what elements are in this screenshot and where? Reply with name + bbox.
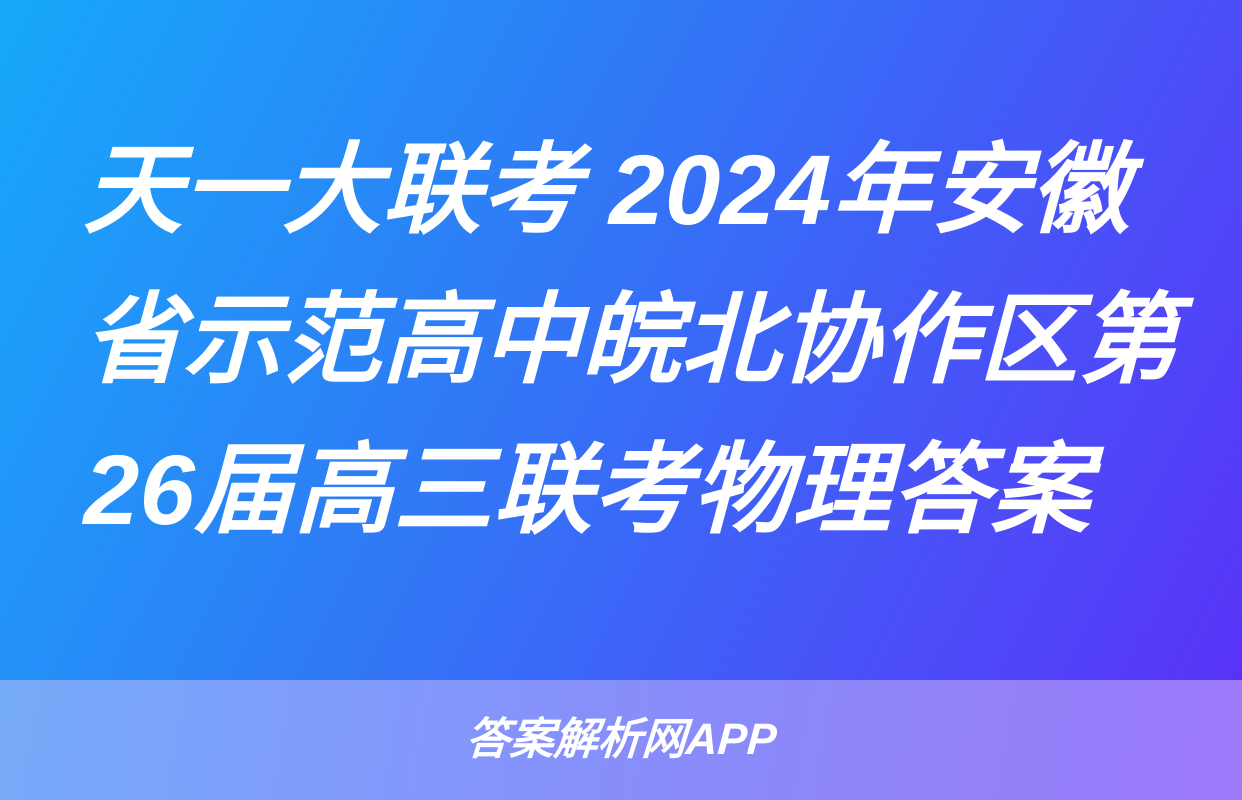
headline-line-1: 天一大联考 2024年安徽 xyxy=(83,115,1168,265)
watermark-band: 答案解析网APP xyxy=(0,680,1242,800)
watermark-brand-label: 答案解析网APP xyxy=(464,718,778,762)
headline-line-3: 26届高三联考物理答案 xyxy=(83,415,1168,565)
headline-line-2: 省示范高中皖北协作区第 xyxy=(83,265,1168,415)
exam-answer-banner-card: 天一大联考 2024年安徽 省示范高中皖北协作区第 26届高三联考物理答案 答案… xyxy=(0,0,1242,800)
headline-block: 天一大联考 2024年安徽 省示范高中皖北协作区第 26届高三联考物理答案 xyxy=(0,0,1242,680)
